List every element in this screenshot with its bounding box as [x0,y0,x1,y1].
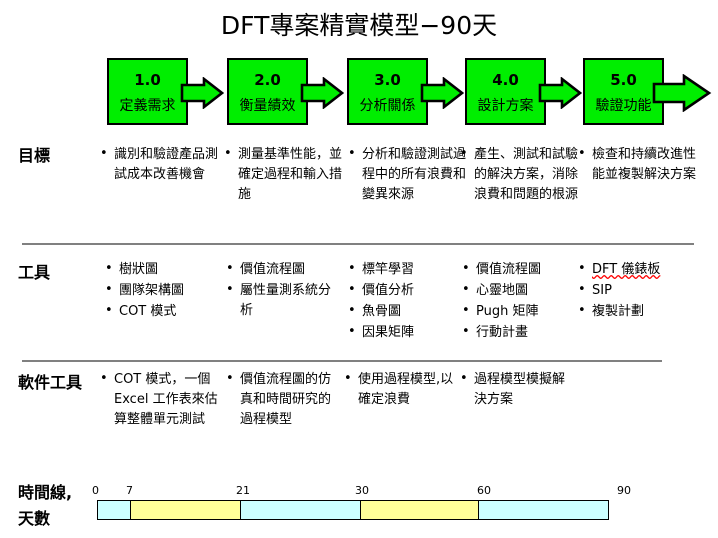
software-column-3-text: 使用過程模型,以確定浪費 [344,370,456,410]
software-column-1-text: COT 模式，一個 Excel 工作表來估算整體單元測試 [100,370,218,430]
software-column-4-text: 過程模型模擬解決方案 [460,370,572,410]
timeline-segment-0-7[interactable] [98,501,131,519]
process-step-2-number: 2.0 [229,72,306,89]
tools-column-5-item-1-text: DFT 儀錶板 [592,262,660,277]
timeline-segment-60-90[interactable] [479,501,608,519]
goals-column-3: 分析和驗證測試過程中的所有浪費和變異來源 [348,145,466,205]
timeline-tick-0: 0 [92,484,99,497]
process-step-4-number: 4.0 [467,72,544,89]
process-step-4-label: 設計方案 [467,98,544,114]
list-item: COT 模式 [105,302,220,322]
process-step-5-label: 驗證功能 [585,98,662,114]
row-label-tools: 工具 [18,262,50,284]
tools-column-4: 價值流程圖 心靈地圖 Pugh 矩陣 行動計畫 [462,260,577,345]
process-step-5-number: 5.0 [585,72,662,89]
list-item: 團隊架構圖 [105,281,220,301]
software-column-4: 過程模型模擬解決方案 [460,370,572,410]
list-item: 價值分析 [348,281,458,301]
timeline-tick-90: 90 [617,484,631,497]
list-item: 屬性量測系統分析 [226,281,338,321]
list-item: 複製計劃 [578,302,696,322]
flow-arrow-2-icon [300,77,340,107]
tools-column-2: 價值流程圖 屬性量測系統分析 [226,260,338,322]
list-item: 因果矩陣 [348,323,458,343]
goals-column-2-text: 測量基準性能，並確定過程和輸入措施 [224,145,344,205]
timeline-segment-21-30[interactable] [241,501,361,519]
process-step-2-label: 衡量績效 [229,98,306,114]
goals-column-1: 識別和驗證產品測試成本改善機會 [100,145,218,185]
flow-arrow-4-icon [538,77,578,107]
flow-arrow-5-icon [652,74,692,104]
software-column-1: COT 模式，一個 Excel 工作表來估算整體單元測試 [100,370,218,430]
process-step-3-label: 分析關係 [349,98,426,114]
tools-column-3: 標竿學習 價值分析 魚骨圖 因果矩陣 [348,260,458,345]
list-item: 價值流程圖 [462,260,577,280]
separator-goals-tools [22,243,694,245]
row-label-goals: 目標 [18,145,50,167]
timeline-segment-30-60[interactable] [361,501,479,519]
list-item: 魚骨圖 [348,302,458,322]
process-step-1-number: 1.0 [109,72,186,89]
process-step-4[interactable]: 4.0 設計方案 [465,58,546,125]
tools-column-1: 樹狀圖 團隊架構圖 COT 模式 [105,260,220,323]
process-flow-band: 1.0 定義需求 2.0 衡量績效 3.0 分析關係 [0,52,718,130]
list-item: 行動計畫 [462,323,577,343]
timeline-segment-7-21[interactable] [131,501,241,519]
goals-column-3-text: 分析和驗證測試過程中的所有浪費和變異來源 [348,145,466,205]
separator-tools-software [22,360,662,362]
goals-column-4: 產生、測試和試驗的解決方案，消除浪費和問題的根源 [460,145,580,205]
list-item: Pugh 矩陣 [462,302,577,322]
row-label-software-tools: 軟件工具 [18,372,82,394]
list-item: 標竿學習 [348,260,458,280]
list-item: 樹狀圖 [105,260,220,280]
goals-column-5: 檢查和持續改進性能並複製解決方案 [578,145,696,185]
timeline-tick-21: 21 [236,484,250,497]
timeline-tick-60: 60 [477,484,491,497]
goals-column-2: 測量基準性能，並確定過程和輸入措施 [224,145,344,205]
goals-column-5-text: 檢查和持續改進性能並複製解決方案 [578,145,696,185]
software-column-2-text: 價值流程圖的仿真和時間研究的過程模型 [226,370,336,430]
list-item: 價值流程圖 [226,260,338,280]
timeline-tick-7: 7 [126,484,133,497]
software-column-3: 使用過程模型,以確定浪費 [344,370,456,410]
process-step-2[interactable]: 2.0 衡量績效 [227,58,308,125]
flow-arrow-1-icon [180,77,220,107]
process-step-1[interactable]: 1.0 定義需求 [107,58,188,125]
timeline-bar[interactable] [97,500,609,520]
slide-canvas: DFT專案精實模型−90天 1.0 定義需求 2.0 衡量績效 3.0 分析關係 [0,0,718,538]
process-step-3[interactable]: 3.0 分析關係 [347,58,428,125]
list-item: SIP [578,281,696,301]
timeline-label-line2: 天數 [18,508,50,530]
flow-arrow-3-icon [420,77,460,107]
timeline-tick-30: 30 [355,484,369,497]
goals-column-1-text: 識別和驗證產品測試成本改善機會 [100,145,218,185]
timeline-tick-labels: 0 7 21 30 60 90 [0,484,718,500]
goals-column-4-text: 產生、測試和試驗的解決方案，消除浪費和問題的根源 [460,145,580,205]
page-title: DFT專案精實模型−90天 [0,6,718,42]
software-column-2: 價值流程圖的仿真和時間研究的過程模型 [226,370,336,430]
process-step-3-number: 3.0 [349,72,426,89]
tools-column-5: DFT 儀錶板 SIP 複製計劃 [578,260,696,323]
list-item: 心靈地圖 [462,281,577,301]
list-item: DFT 儀錶板 [578,260,696,280]
process-step-1-label: 定義需求 [109,98,186,114]
